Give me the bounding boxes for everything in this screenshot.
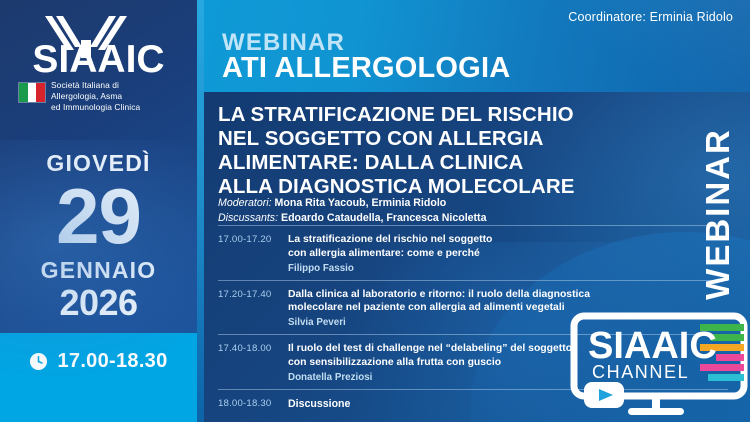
siaaic-logo-text: SIAAIC xyxy=(15,40,183,79)
channel-logo-name: SIAAIC xyxy=(588,325,717,367)
program-item-time: 18.00-18.30 xyxy=(218,397,278,411)
date-day-number: 29 xyxy=(0,179,197,253)
siaaic-logo-subtitle-group: Società Italiana di Allergologia, Asma e… xyxy=(18,80,180,113)
event-date: GIOVEDÌ 29 GENNAIO 2026 xyxy=(0,150,197,321)
channel-logo-subtitle: CHANNEL xyxy=(592,362,689,382)
discussants-row: Discussants: Edoardo Cataudella, Frances… xyxy=(218,211,648,226)
play-icon xyxy=(584,382,624,408)
date-year: 2026 xyxy=(0,285,197,321)
program-item-title-line-1: Il ruolo del test di challenge nel “dela… xyxy=(288,343,572,354)
subtitle-line-3: ed Immunologia Clinica xyxy=(51,102,140,112)
program-item-title-line-2: con allergia alimentare: come e perché xyxy=(288,248,480,259)
program-item-speaker: Filippo Fassio xyxy=(288,263,728,274)
program-item: 17.00-17.20 La stratificazione del risch… xyxy=(218,225,728,280)
vertical-webinar-banner: WEBINAR xyxy=(686,92,750,336)
event-title-line-2: NEL SOGGETTO CON ALLERGIA xyxy=(218,127,638,151)
moderators-names: Mona Rita Yacoub, Erminia Ridolo xyxy=(275,197,447,209)
discussants-label: Discussants: xyxy=(218,212,278,224)
program-item-title-line-1: Dalla clinica al laboratorio e ritorno: … xyxy=(288,289,590,300)
program-item-title-line-2: con sensibilizzazione alla frutta con gu… xyxy=(288,357,501,368)
siaaic-logo-subtitle: Società Italiana di Allergologia, Asma e… xyxy=(51,80,140,113)
program-item-time: 17.00-17.20 xyxy=(218,233,278,274)
siaaic-logo: SIAAIC Società Italiana di Allergologia,… xyxy=(0,14,197,98)
program-item-time: 17.20-17.40 xyxy=(218,288,278,329)
program-item-title: La stratificazione del rischio nel sogge… xyxy=(288,233,728,261)
coordinator-label: Coordinatore: Erminia Ridolo xyxy=(568,10,733,24)
discussants-names: Edoardo Cataudella, Francesca Nicoletta xyxy=(281,212,486,224)
left-info-panel: SIAAIC Società Italiana di Allergologia,… xyxy=(0,0,197,422)
event-title-line-3: ALIMENTARE: DALLA CLINICA xyxy=(218,151,638,175)
panel-divider xyxy=(197,0,204,422)
webinar-poster: SIAAIC Società Italiana di Allergologia,… xyxy=(0,0,750,422)
subtitle-line-2: Allergologia, Asma xyxy=(51,91,122,101)
vertical-webinar-text: WEBINAR xyxy=(699,128,737,300)
event-title: LA STRATIFICAZIONE DEL RISCHIO NEL SOGGE… xyxy=(218,103,638,199)
subtitle-line-1: Società Italiana di xyxy=(51,80,119,90)
siaaic-channel-logo: SIAAIC CHANNEL xyxy=(570,304,748,420)
clock-icon xyxy=(29,352,48,371)
moderators-row: Moderatori: Mona Rita Yacoub, Erminia Ri… xyxy=(218,196,648,211)
date-month: GENNAIO xyxy=(0,257,197,284)
program-item-title-line-2: molecolare nel paziente con allergia ad … xyxy=(288,302,565,313)
event-time-bar: 17.00-18.30 xyxy=(0,333,197,422)
header-program-name: ATI ALLERGOLOGIA xyxy=(222,54,510,83)
header-band: Coordinatore: Erminia Ridolo WEBINAR ATI… xyxy=(204,0,750,92)
event-time-range: 17.00-18.30 xyxy=(57,350,167,373)
event-title-line-1: LA STRATIFICAZIONE DEL RISCHIO xyxy=(218,103,638,127)
people-block: Moderatori: Mona Rita Yacoub, Erminia Ri… xyxy=(218,196,648,226)
program-item-title-line-1: La stratificazione del rischio nel sogge… xyxy=(288,234,492,245)
program-item-time: 17.40-18.00 xyxy=(218,342,278,383)
moderators-label: Moderatori: xyxy=(218,197,272,209)
italian-flag-icon xyxy=(18,82,46,103)
